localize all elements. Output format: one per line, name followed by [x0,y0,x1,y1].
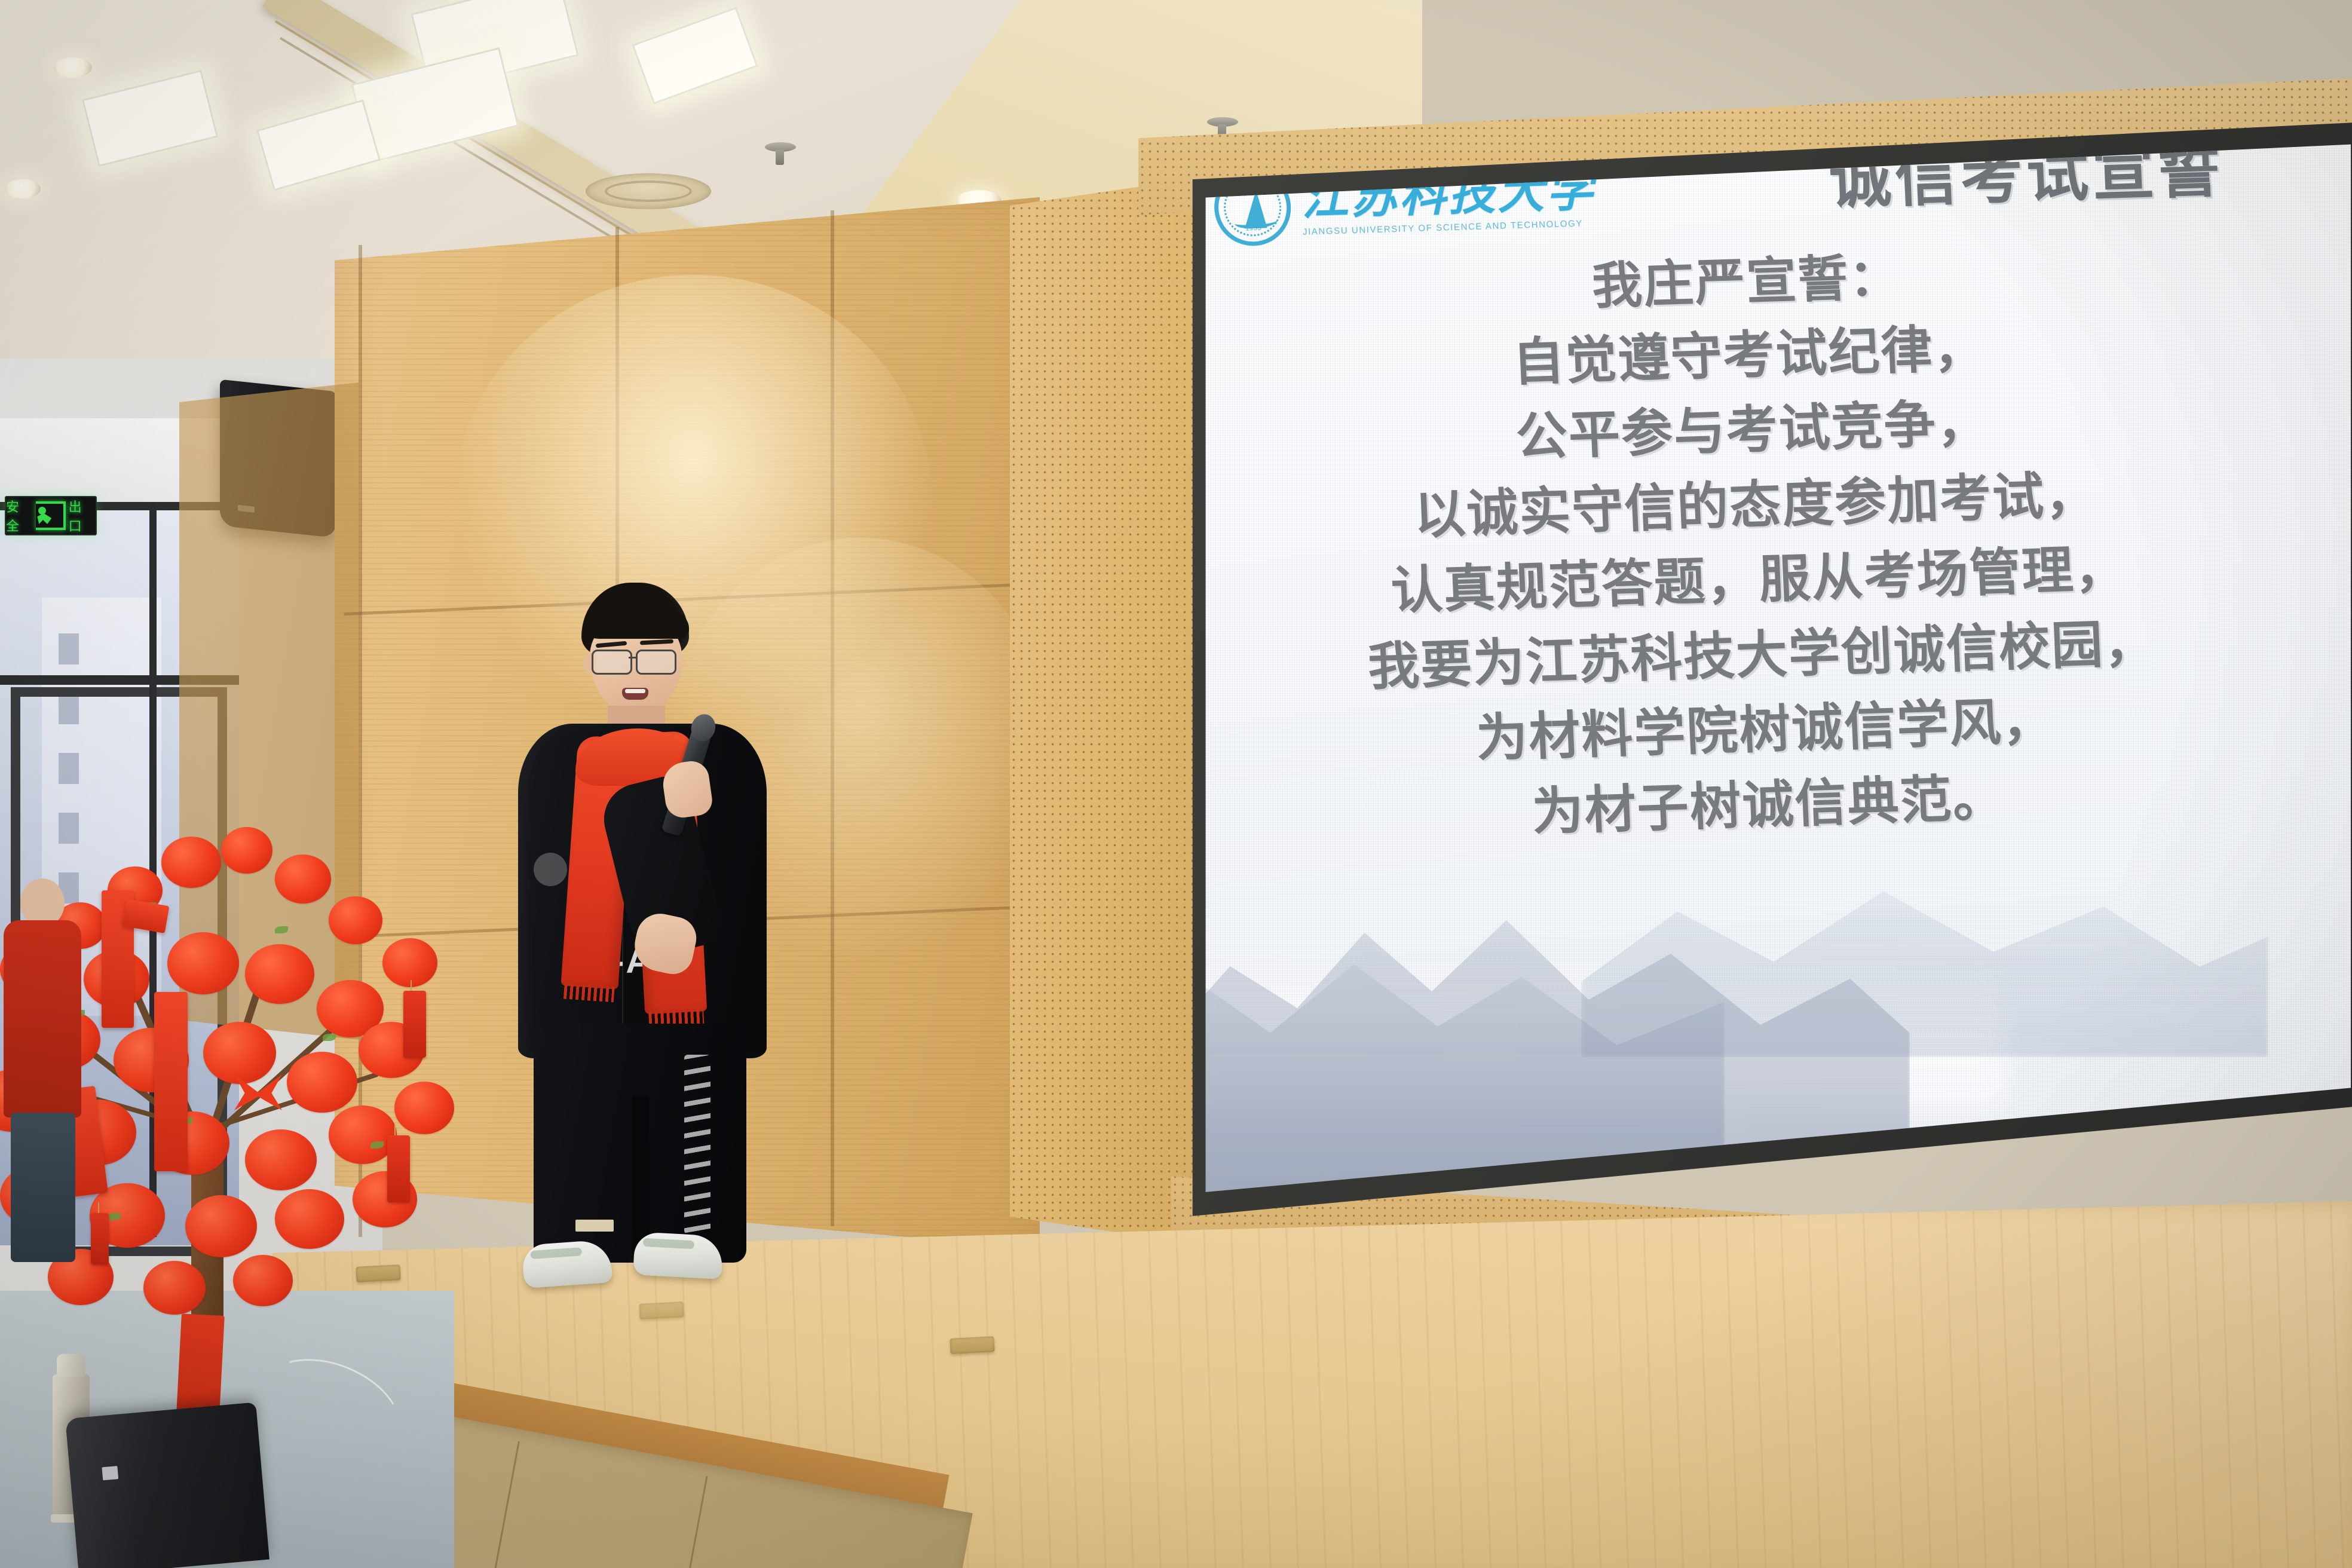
blossom-cluster [143,1261,206,1315]
blossom-cluster [233,1255,293,1306]
wood-panel-seam [831,210,834,1226]
sprinkler-head [765,142,796,152]
glasses-lens-right [636,650,676,675]
wish-tag [387,1135,410,1202]
presenter-mouth [622,688,648,700]
blossom-cluster [245,944,314,1004]
oath-line: 为材子树诚信典范。 [1530,761,2007,850]
stage-panel-seam [673,1476,708,1568]
glasses-lens-left [592,650,632,675]
led-display-screen: 1933 江苏科技大学 JIANGSU UNIVERSITY OF SCIENC… [1183,122,2352,1216]
running-person-icon [36,501,65,530]
bystander-legs [11,1113,75,1262]
blossom-cluster [275,1189,344,1249]
presenter-shoe [522,1239,613,1288]
ceiling-downlight [54,57,92,78]
ceiling-air-vent [586,173,711,209]
red-wish-card [154,992,188,1171]
blossom-cluster [275,855,331,904]
blossom-cluster [329,896,382,944]
exit-sign-text-left: 安全 [6,497,33,535]
emergency-exit-sign: 安全 出口 [5,496,97,535]
slide-surface: 1933 江苏科技大学 JIANGSU UNIVERSITY OF SCIENC… [1199,138,2351,1200]
presenter-glasses [592,650,682,671]
blossom-cluster [185,1195,257,1257]
blossom-cluster [394,1082,454,1134]
photo-scene: 安全 出口 1933 [0,0,2352,1568]
blossom-cluster [245,1129,317,1190]
bystander-torso [4,920,81,1117]
bystander [0,878,90,1261]
oath-line: 公平参与考试竞争， [1514,386,1990,476]
exit-sign-text-right: 出口 [69,497,96,535]
jacket-sleeve-logo [534,853,567,886]
tree-leaf [323,1034,336,1041]
blossom-cluster [329,1105,397,1164]
blossom-cluster [382,938,437,987]
wish-tag [91,1213,109,1264]
wish-tag [403,991,426,1058]
stage-floor-socket [639,1301,684,1319]
slide-content: 1933 江苏科技大学 JIANGSU UNIVERSITY OF SCIENC… [1199,138,2351,1200]
oath-text-block: 我庄严宣誓： 自觉遵守考试纪律， 公平参与考试竞争， 以诚实守信的态度参加考试，… [1199,228,2334,860]
blossom-cluster [167,932,239,994]
presenter-fringe [583,607,689,639]
blossom-cluster [287,1052,357,1113]
oath-line: 自觉遵守考试纪律， [1511,311,1987,401]
tree-leaf [108,1213,121,1220]
blossom-cluster [203,1022,276,1084]
pants-label-tag [575,1220,614,1232]
emblem-year: 1933 [1219,224,1287,233]
oath-lead-line: 我庄严宣誓： [1591,240,1902,323]
blossom-cluster [161,837,221,888]
presenter-pants [534,1024,746,1263]
blossom-cluster [221,827,272,874]
glasses-bridge [629,657,637,659]
tree-leaf [275,926,288,933]
ceiling-downlight [5,179,41,198]
floor-speaker [65,1402,269,1568]
stage-panel-seam [485,1441,520,1568]
stage-floor-socket [950,1336,994,1354]
butterfly-ornament [234,1074,282,1110]
pants-side-print [684,1055,710,1234]
tree-leaf [370,1141,384,1149]
presenter: -A [505,583,780,1288]
